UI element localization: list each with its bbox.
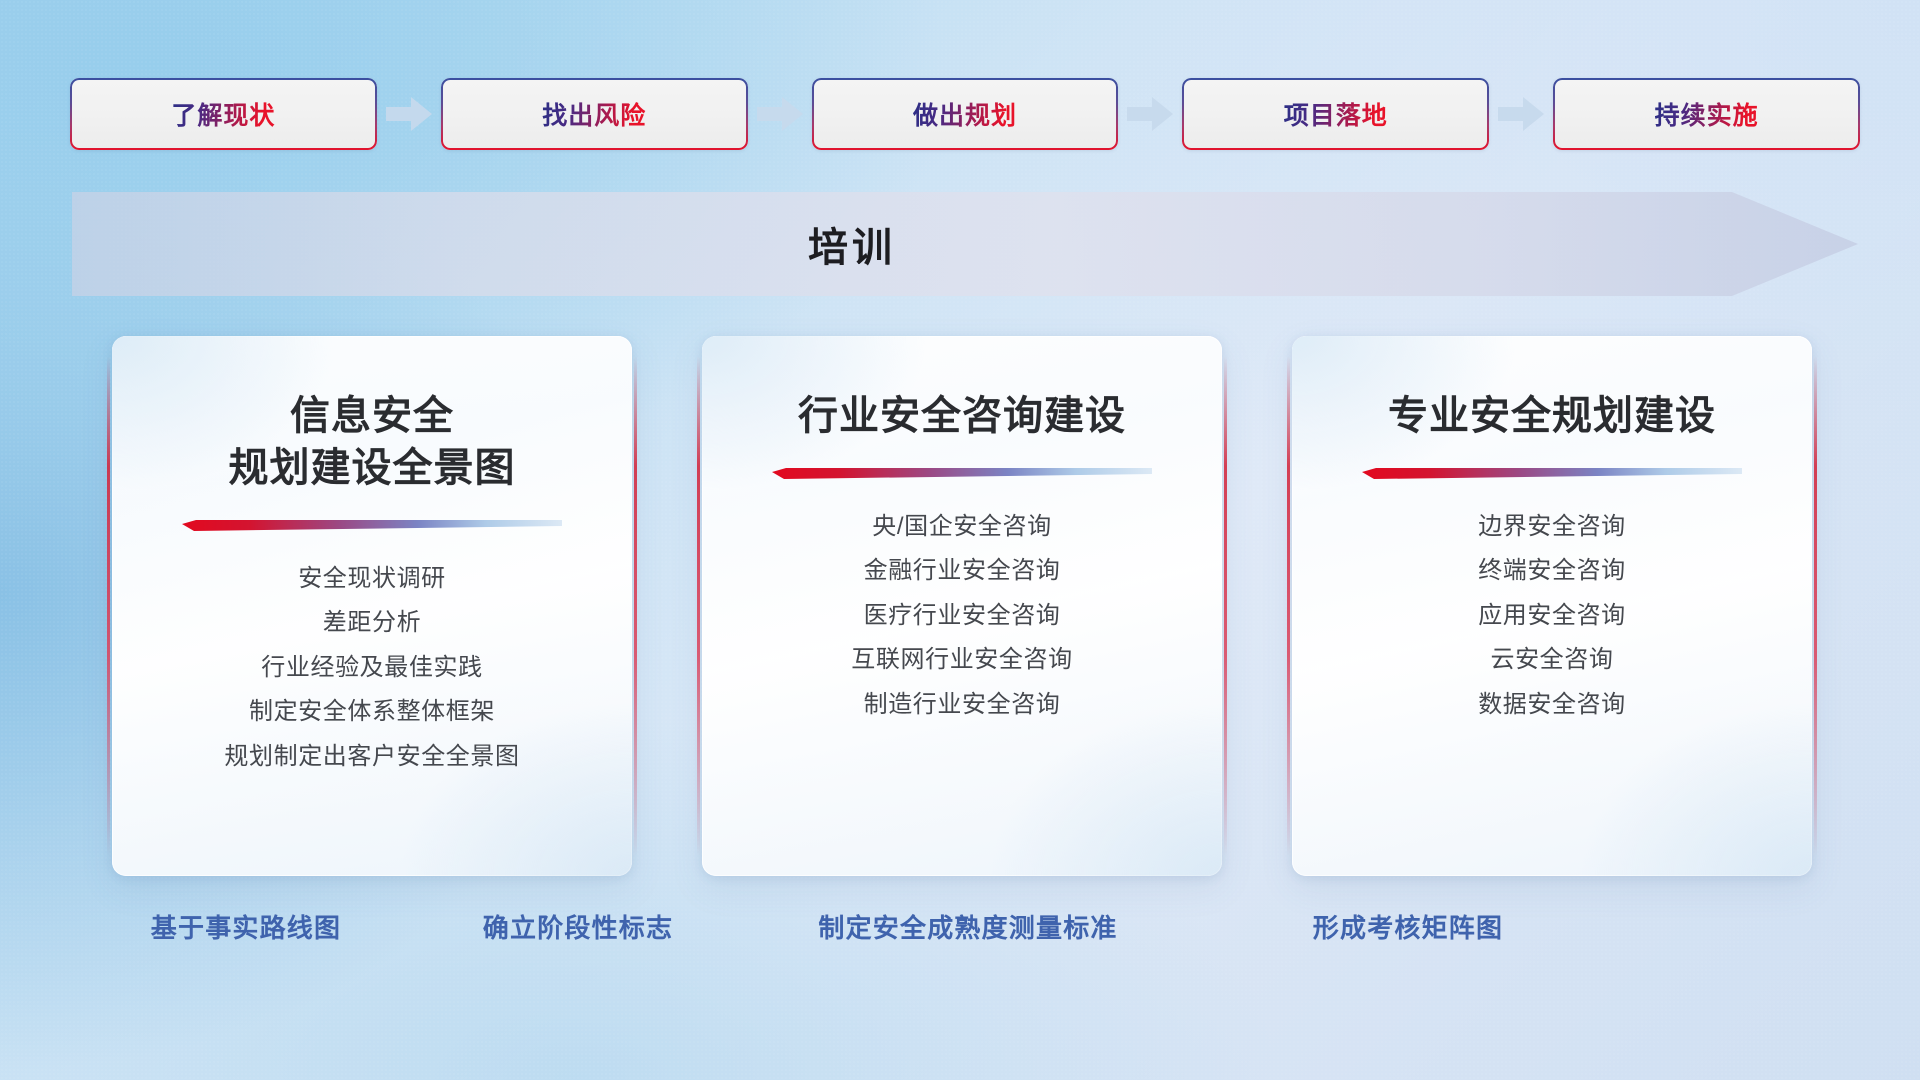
step-box-4[interactable]: 项目落地 bbox=[1182, 78, 1489, 150]
step-box-2[interactable]: 找出风险 bbox=[441, 78, 748, 150]
step-arrow-icon-2 bbox=[748, 92, 812, 136]
step-label-3: 做出规划 bbox=[913, 96, 1017, 132]
card-item-list-1: 安全现状调研 差距分析 行业经验及最佳实践 制定安全体系整体框架 规划制定出客户… bbox=[224, 563, 519, 773]
capability-card-1[interactable]: 信息安全 规划建设全景图 bbox=[112, 336, 632, 876]
capability-card-2[interactable]: 行业安全咨询建设 bbox=[702, 336, 1222, 876]
step-box-5[interactable]: 持续实施 bbox=[1553, 78, 1860, 150]
step-label-5: 持续实施 bbox=[1655, 96, 1759, 132]
step-label-1: 了解现状 bbox=[171, 96, 275, 132]
step-box-1[interactable]: 了解现状 bbox=[70, 78, 377, 150]
card-slot-2: 行业安全咨询建设 bbox=[702, 336, 1222, 876]
card-item-list-2: 央/国企安全咨询 金融行业安全咨询 医疗行业安全咨询 互联网行业安全咨询 制造行… bbox=[851, 511, 1072, 721]
list-item: 边界安全咨询 bbox=[1478, 511, 1626, 543]
card-title-1: 信息安全 规划建设全景图 bbox=[229, 390, 516, 494]
outcome-label-1: 基于事实路线图 bbox=[151, 908, 341, 948]
list-item: 医疗行业安全咨询 bbox=[864, 600, 1061, 632]
outcome-label-2: 确立阶段性标志 bbox=[483, 908, 673, 948]
step-box-3[interactable]: 做出规划 bbox=[812, 78, 1119, 150]
card-accent-rail-left-1 bbox=[107, 356, 110, 856]
list-item: 制造行业安全咨询 bbox=[864, 689, 1061, 721]
list-item: 央/国企安全咨询 bbox=[872, 511, 1051, 543]
card-title-3: 专业安全规划建设 bbox=[1388, 390, 1716, 442]
card-accent-rail-left-3 bbox=[1287, 356, 1290, 856]
step-arrow-icon-4 bbox=[1489, 92, 1553, 136]
card-accent-rail-right-1 bbox=[634, 356, 637, 856]
card-divider-2 bbox=[772, 468, 1152, 479]
list-item: 规划制定出客户安全全景图 bbox=[224, 741, 519, 773]
card-accent-rail-left-2 bbox=[697, 356, 700, 856]
card-divider-3 bbox=[1362, 468, 1742, 479]
card-title-2: 行业安全咨询建设 bbox=[798, 390, 1126, 442]
list-item: 终端安全咨询 bbox=[1478, 555, 1626, 587]
outcome-label-3: 制定安全成熟度测量标准 bbox=[818, 908, 1117, 948]
outcome-label-4: 形成考核矩阵图 bbox=[1313, 908, 1503, 948]
card-item-list-3: 边界安全咨询 终端安全咨询 应用安全咨询 云安全咨询 数据安全咨询 bbox=[1478, 511, 1626, 721]
step-label-2: 找出风险 bbox=[542, 96, 646, 132]
capability-card-row: 信息安全 规划建设全景图 bbox=[112, 336, 1812, 876]
list-item: 行业经验及最佳实践 bbox=[261, 652, 482, 684]
card-accent-rail-right-3 bbox=[1814, 356, 1817, 856]
card-slot-3: 专业安全规划建设 bbox=[1292, 336, 1812, 876]
list-item: 数据安全咨询 bbox=[1478, 689, 1626, 721]
slide-canvas: 了解现状 找出风险 做出规划 项目落地 bbox=[0, 0, 1920, 1080]
process-step-row: 了解现状 找出风险 做出规划 项目落地 bbox=[70, 78, 1860, 150]
card-accent-rail-right-2 bbox=[1224, 356, 1227, 856]
list-item: 制定安全体系整体框架 bbox=[249, 696, 495, 728]
list-item: 安全现状调研 bbox=[298, 563, 446, 595]
list-item: 互联网行业安全咨询 bbox=[851, 644, 1072, 676]
card-divider-1 bbox=[182, 520, 562, 531]
step-label-4: 项目落地 bbox=[1284, 96, 1388, 132]
capability-card-3[interactable]: 专业安全规划建设 bbox=[1292, 336, 1812, 876]
list-item: 差距分析 bbox=[323, 607, 421, 639]
outcome-label-row: 基于事实路线图 确立阶段性标志 制定安全成熟度测量标准 形成考核矩阵图 bbox=[0, 908, 1920, 964]
card-slot-1: 信息安全 规划建设全景图 bbox=[112, 336, 632, 876]
list-item: 应用安全咨询 bbox=[1478, 600, 1626, 632]
step-arrow-icon-3 bbox=[1118, 92, 1182, 136]
step-arrow-icon-1 bbox=[377, 92, 441, 136]
list-item: 金融行业安全咨询 bbox=[864, 555, 1061, 587]
banner-title: 培训 bbox=[72, 192, 1632, 296]
training-banner: 培训 bbox=[72, 192, 1858, 296]
list-item: 云安全咨询 bbox=[1490, 644, 1613, 676]
